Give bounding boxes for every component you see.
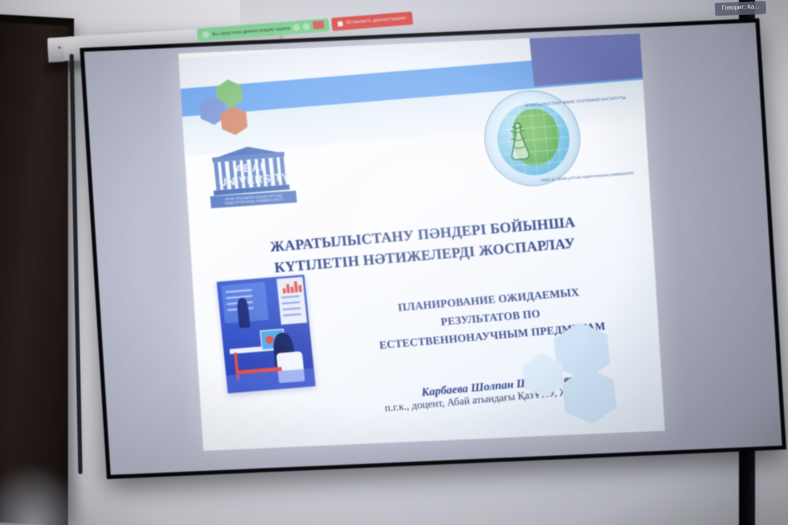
- presentation-slide: ABAI UNIVERSITY АБАЙ АТЫНДАҒЫ ҚАЗАҚ ҰЛТТ…: [178, 33, 665, 450]
- slide-title-kazakh: ЖАРАТЫЛЫСТАНУ ПӘНДЕРІ БОЙЫНША КҮТІЛЕТІН …: [226, 209, 623, 282]
- sharing-status-label: Вы запустили демонстрацию экрана: [212, 25, 290, 36]
- screenshot-root: ● Вы запустили демонстрацию экрана Остан…: [0, 0, 788, 525]
- roller-brand-logo: ●: [58, 45, 62, 51]
- hexagon-cluster-logo: [195, 77, 267, 144]
- wooden-cabinet: [0, 22, 68, 525]
- emblem-ring-label: Абай ат. Қазақ ұлттық педагогикалық унив…: [481, 88, 584, 189]
- active-speaker-badge: Говорит: Ка...: [715, 1, 767, 16]
- abai-university-logo: ABAI UNIVERSITY АБАЙ АТЫНДАҒЫ ҚАЗАҚ ҰЛТТ…: [207, 142, 292, 206]
- projector-screen: Вы запустили демонстрацию экрана Останов…: [78, 0, 788, 519]
- stop-share-button[interactable]: Остановить демонстрацию: [331, 11, 413, 30]
- slide-illustration: [217, 275, 316, 394]
- record-icon[interactable]: [303, 22, 311, 30]
- slide-watermark-hexagons: [518, 318, 648, 431]
- roller-end-cap: [47, 44, 64, 63]
- watermark-hexagon-3: [561, 366, 618, 426]
- flask-dna-icon: [506, 120, 532, 164]
- record-indicator-icon[interactable]: [312, 21, 324, 30]
- stop-share-label: Остановить демонстрацию: [345, 16, 406, 26]
- institute-emblem: Абай ат. Қазақ ұлттық педагогикалық унив…: [480, 87, 585, 190]
- stop-icon: [338, 21, 343, 26]
- illustration-bar-chart-icon: [282, 280, 302, 294]
- cabinet-light-reflection: [0, 465, 86, 525]
- annotate-icon[interactable]: [202, 30, 210, 38]
- pause-icon[interactable]: [293, 23, 301, 31]
